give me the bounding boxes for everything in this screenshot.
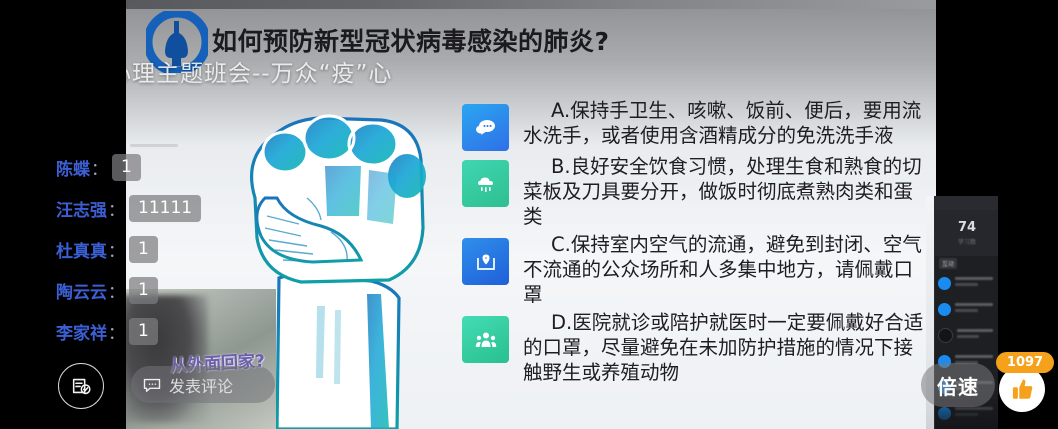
chat-message: 陈蝶 ： 1 (56, 152, 376, 182)
chat-sender-name: 汪志强 (56, 196, 107, 221)
list-item-text (955, 303, 999, 315)
side-panel-tab-label: 互动 (939, 258, 957, 269)
bullet-text: D.医院就诊或陪护就医时一定要佩戴好合适的口罩，尽量避免在未加防护措施的情况下接… (523, 310, 932, 385)
bullet-item: C.保持室内空气的流通，避免到封闭、空气不流通的公众场所和人多集中地方，请佩戴口… (462, 232, 932, 307)
chat-sender-name: 陈蝶 (56, 155, 90, 180)
bullet-text: C.保持室内空气的流通，避免到封闭、空气不流通的公众场所和人多集中地方，请佩戴口… (523, 232, 932, 307)
bullet-item: A.保持手卫生、咳嗽、饭前、便后，要用流水洗手，或者使用含酒精成分的免洗洗手液 (462, 98, 932, 151)
like-button[interactable]: 1097 (996, 352, 1056, 414)
side-panel-tab[interactable]: 互动 (935, 256, 999, 270)
avatar (938, 303, 951, 316)
avatar (938, 277, 951, 290)
bullet-item: D.医院就诊或陪护就医时一定要佩戴好合适的口罩，尽量避免在未加防护措施的情况下接… (462, 310, 932, 385)
chat-separator: ： (108, 237, 125, 262)
playback-speed-button[interactable]: 倍速 (921, 363, 995, 407)
side-panel-header (935, 196, 999, 210)
bullet-text: B.良好安全饮食习惯，处理生食和熟食的切菜板及刀具要分开，做饭时彻底煮熟肉类和蛋… (523, 154, 932, 229)
video-player-screen: 如何预防新型冠状病毒感染的肺炎? (0, 0, 1058, 429)
comment-bubble-icon (142, 375, 162, 395)
lungs-logo-icon (146, 11, 208, 73)
stage-top-band (126, 0, 936, 9)
chat-bubble-icon (462, 104, 509, 151)
chat-message-text: 1 (129, 318, 158, 345)
prevention-bullet-list: A.保持手卫生、咳嗽、饭前、便后，要用流水洗手，或者使用含酒精成分的免洗洗手液 … (462, 98, 932, 388)
avatar (938, 328, 953, 343)
note-check-icon (70, 375, 92, 397)
chat-message-text: 11111 (129, 195, 201, 222)
cloud-rain-icon (462, 160, 509, 207)
location-pin-icon (462, 238, 509, 285)
chat-separator: ： (108, 278, 125, 303)
people-group-icon (462, 316, 509, 363)
list-item[interactable] (935, 270, 999, 296)
comment-input-bar[interactable]: 发表评论 (131, 366, 275, 403)
like-count-badge: 1097 (996, 352, 1054, 373)
side-panel-count-label: 学习数 (958, 237, 976, 246)
chat-message: 李家祥 ： 1 (56, 316, 376, 346)
chat-message-list: 陈蝶 ： 1 汪志强 ： 11111 杜真真 ： 1 陶云云 ： 1 李家祥 ：… (56, 152, 376, 357)
chat-message-text: 1 (129, 236, 158, 263)
chat-divider (130, 144, 178, 147)
note-check-button[interactable] (58, 363, 104, 409)
chat-message-text: 1 (112, 154, 141, 181)
thumbs-up-icon (1009, 376, 1035, 402)
chat-message-text: 1 (129, 277, 158, 304)
chat-separator: ： (108, 319, 125, 344)
list-item[interactable] (935, 296, 999, 322)
list-item-text (957, 329, 999, 341)
list-item-text (955, 277, 999, 289)
chat-message: 陶云云 ： 1 (56, 275, 376, 305)
chat-message: 杜真真 ： 1 (56, 234, 376, 264)
chat-sender-name: 杜真真 (56, 237, 107, 262)
chat-separator: ： (108, 196, 125, 221)
chat-sender-name: 李家祥 (56, 319, 107, 344)
playback-speed-label: 倍速 (937, 371, 979, 400)
list-item[interactable] (935, 322, 999, 348)
side-panel-count: 74 学习数 (935, 210, 999, 256)
comment-input-placeholder: 发表评论 (169, 373, 233, 397)
chat-message: 汪志强 ： 11111 (56, 193, 376, 223)
bullet-item: B.良好安全饮食习惯，处理生食和熟食的切菜板及刀具要分开，做饭时彻底煮熟肉类和蛋… (462, 154, 932, 229)
side-panel-count-value: 74 (958, 220, 976, 235)
chat-sender-name: 陶云云 (56, 278, 107, 303)
chat-separator: ： (91, 155, 108, 180)
bullet-text: A.保持手卫生、咳嗽、饭前、便后，要用流水洗手，或者使用含酒精成分的免洗洗手液 (523, 98, 932, 148)
